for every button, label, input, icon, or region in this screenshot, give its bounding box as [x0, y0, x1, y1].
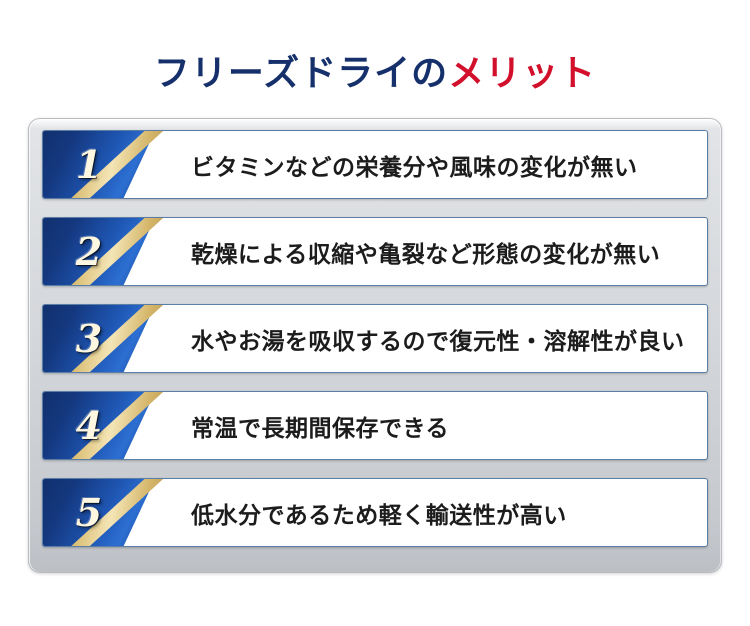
badge-number-label: 2 [43, 218, 135, 286]
badge-number-label: 1 [43, 131, 135, 199]
number-badge-2: 2 [43, 218, 181, 285]
benefits-list: 1 ビタミンなどの栄養分や風味の変化が無い 2 乾燥による収縮や亀裂など形態の変… [42, 130, 708, 559]
number-badge-5: 5 [43, 479, 181, 546]
badge-gold-stripe [43, 131, 181, 198]
page-title-accent: メリット [448, 53, 596, 94]
benefit-text: 常温で長期間保存できる [191, 409, 449, 443]
badge-number-label: 5 [43, 479, 135, 547]
number-badge-1: 1 [43, 131, 181, 198]
benefit-row-4: 4 常温で長期間保存できる [42, 391, 708, 460]
badge-blue-shape [43, 479, 155, 546]
benefits-frame: 1 ビタミンなどの栄養分や風味の変化が無い 2 乾燥による収縮や亀裂など形態の変… [28, 118, 722, 573]
benefit-row-3: 3 水やお湯を吸収するので復元性・溶解性が良い [42, 304, 708, 373]
benefits-infographic: フリーズドライのメリット 1 ビタミンなどの栄養分や風味の変化が無い 2 乾燥に… [0, 0, 750, 626]
badge-blue-shape [43, 392, 155, 459]
benefit-text: 水やお湯を吸収するので復元性・溶解性が良い [191, 322, 685, 356]
benefit-row-2: 2 乾燥による収縮や亀裂など形態の変化が無い [42, 217, 708, 286]
number-badge-4: 4 [43, 392, 181, 459]
page-title: フリーズドライのメリット [0, 52, 750, 96]
badge-gold-stripe [43, 218, 181, 285]
badge-gold-stripe [43, 392, 181, 459]
badge-blue-shape [43, 131, 155, 198]
badge-number-label: 4 [43, 392, 135, 460]
badge-number-label: 3 [43, 305, 135, 373]
benefit-text: 乾燥による収縮や亀裂など形態の変化が無い [191, 235, 660, 269]
badge-blue-shape [43, 218, 155, 285]
badge-gold-stripe [43, 479, 181, 546]
badge-gold-stripe [43, 305, 181, 372]
benefit-row-5: 5 低水分であるため軽く輸送性が高い [42, 478, 708, 547]
number-badge-3: 3 [43, 305, 181, 372]
benefit-text: ビタミンなどの栄養分や風味の変化が無い [191, 148, 638, 182]
badge-blue-shape [43, 305, 155, 372]
benefit-text: 低水分であるため軽く輸送性が高い [191, 496, 567, 530]
page-title-main: フリーズドライの [154, 53, 448, 94]
benefit-row-1: 1 ビタミンなどの栄養分や風味の変化が無い [42, 130, 708, 199]
